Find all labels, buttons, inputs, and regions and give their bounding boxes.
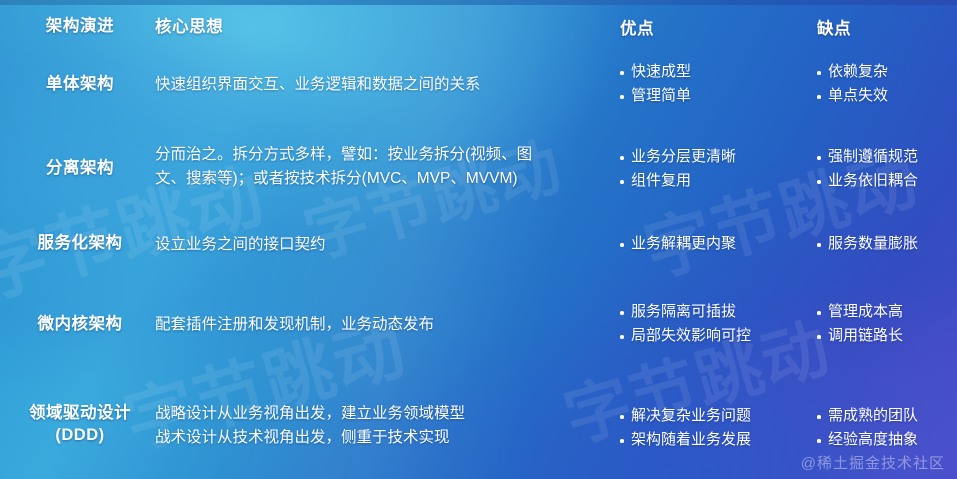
list-item: 经验高度抽象 [817, 428, 957, 452]
list-item: 调用链路长 [817, 324, 957, 348]
header-cell-idea: 核心思想 [155, 15, 595, 41]
row-name: 分离架构 [14, 157, 146, 179]
row-name: 领域驱动设计 [14, 402, 146, 424]
row-idea-line: 配套插件注册和发现机制，业务动态发布 [155, 313, 595, 337]
row-name: 服务化架构 [14, 232, 146, 254]
row-cons-list: 依赖复杂 单点失效 [817, 60, 957, 109]
list-item: 管理成本高 [817, 300, 957, 324]
row-pros-list: 快速成型 管理简单 [620, 60, 810, 109]
row-idea-line: 快速组织界面交互、业务逻辑和数据之间的关系 [155, 73, 595, 97]
list-item: 业务解耦更内聚 [620, 232, 810, 256]
row-pros-list: 业务解耦更内聚 [620, 232, 810, 256]
list-item: 架构随着业务发展 [620, 428, 810, 452]
header-cell-pros: 优点 [620, 20, 654, 38]
source-watermark: @稀土掘金技术社区 [801, 452, 945, 473]
list-item: 服务隔离可插拔 [620, 300, 810, 324]
row-cons-list: 管理成本高 调用链路长 [817, 300, 957, 349]
header-cell-name: 架构演进 [14, 15, 146, 37]
table-header-row: 架构演进 核心思想 优点 缺点 [0, 15, 957, 43]
row-name: 单体架构 [14, 73, 146, 95]
header-cell-cons: 缺点 [817, 20, 851, 38]
row-name-sub: (DDD) [14, 424, 146, 446]
list-item: 业务依旧耦合 [817, 169, 957, 193]
list-item: 局部失效影响可控 [620, 324, 810, 348]
row-idea-line: 设立业务之间的接口契约 [155, 233, 595, 257]
list-item: 需成熟的团队 [817, 404, 957, 428]
row-pros-list: 业务分层更清晰 组件复用 [620, 145, 810, 194]
row-cons-list: 强制遵循规范 业务依旧耦合 [817, 145, 957, 194]
list-item: 业务分层更清晰 [620, 145, 810, 169]
list-item: 单点失效 [817, 84, 957, 108]
table-row[interactable]: 领域驱动设计 (DDD) 战略设计从业务视角出发，建立业务领域模型 战术设计从技… [0, 402, 957, 452]
list-item: 强制遵循规范 [817, 145, 957, 169]
row-idea-line: 分而治之。拆分方式多样，譬如：按业务拆分(视频、图 [155, 143, 595, 167]
row-pros-list: 服务隔离可插拔 局部失效影响可控 [620, 300, 810, 349]
list-item: 快速成型 [620, 60, 810, 84]
row-idea-line: 战术设计从技术视角出发，侧重于技术实现 [155, 426, 595, 450]
table-row[interactable]: 服务化架构 设立业务之间的接口契约 业务解耦更内聚 服务数量膨胀 [0, 232, 957, 258]
list-item: 依赖复杂 [817, 60, 957, 84]
list-item: 服务数量膨胀 [817, 232, 957, 256]
slide-canvas: 字节跳动 字节跳动 字节跳动 字节跳动 字节跳动 架构演进 核心思想 优点 缺点… [0, 0, 957, 479]
table-row[interactable]: 分离架构 分而治之。拆分方式多样，譬如：按业务拆分(视频、图 文、搜索等)；或者… [0, 143, 957, 193]
row-idea-line: 战略设计从业务视角出发，建立业务领域模型 [155, 402, 595, 426]
row-pros-list: 解决复杂业务问题 架构随着业务发展 [620, 404, 810, 453]
table-row[interactable]: 微内核架构 配套插件注册和发现机制，业务动态发布 服务隔离可插拔 局部失效影响可… [0, 300, 957, 348]
row-idea-line: 文、搜索等)；或者按技术拆分(MVC、MVP、MVVM) [155, 167, 595, 191]
architecture-comparison-table: 架构演进 核心思想 优点 缺点 单体架构 快速组织界面交互、业务逻辑和数据之间的… [0, 0, 957, 479]
list-item: 管理简单 [620, 84, 810, 108]
table-row[interactable]: 单体架构 快速组织界面交互、业务逻辑和数据之间的关系 快速成型 管理简单 依赖复… [0, 60, 957, 108]
row-cons-list: 需成熟的团队 经验高度抽象 [817, 404, 957, 453]
list-item: 解决复杂业务问题 [620, 404, 810, 428]
row-cons-list: 服务数量膨胀 [817, 232, 957, 256]
row-name: 微内核架构 [14, 313, 146, 335]
list-item: 组件复用 [620, 169, 810, 193]
